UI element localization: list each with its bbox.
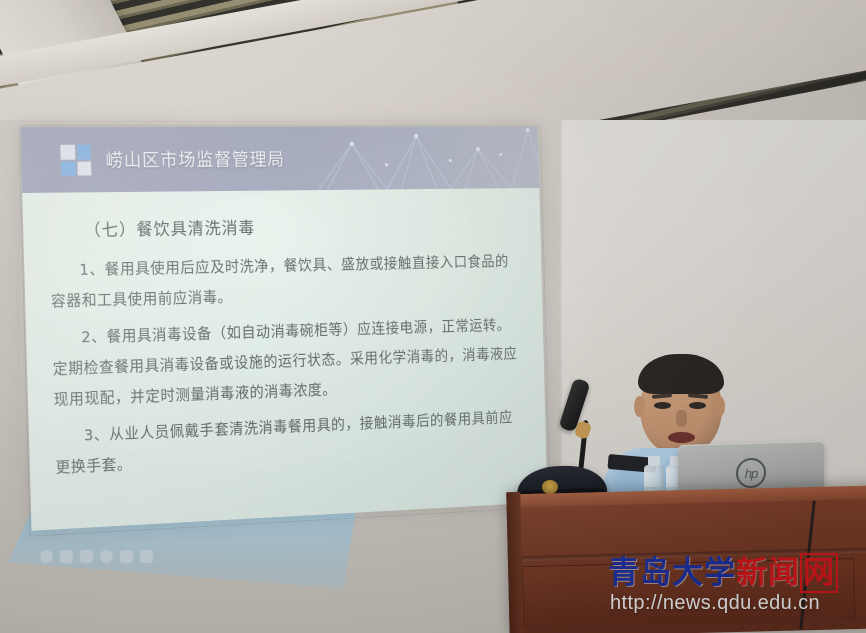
more-options-icon[interactable]: [140, 550, 153, 563]
pen-icon[interactable]: [80, 550, 93, 563]
eye-left: [654, 402, 671, 409]
org-logo-icon: [60, 145, 91, 176]
conference-room-photo: 崂山区市场监督管理局 （七）餐饮具清洗消毒 1、餐用具使用后应及时洗净，餐饮具、…: [0, 0, 866, 633]
ear-left: [634, 396, 645, 417]
network-node-graphic: [299, 127, 540, 191]
slide-paragraph-1: 1、餐用具使用后应及时洗净，餐饮具、盛放或接触直接入口食品的容器和工具使用前应消…: [50, 247, 520, 317]
org-title: 崂山区市场监督管理局: [105, 146, 285, 172]
projection-screen: 崂山区市场监督管理局 （七）餐饮具清洗消毒 1、餐用具使用后应及时洗净，餐饮具、…: [20, 127, 547, 531]
previous-slide-icon[interactable]: [40, 550, 53, 563]
eye-right: [689, 402, 706, 409]
ear-right: [714, 396, 725, 417]
slide-paragraph-3: 3、从业人员佩戴手套清洗消毒餐用具的，接触消毒后的餐用具前应更换手套。: [54, 403, 524, 484]
hair: [638, 354, 724, 394]
slide-header-band: 崂山区市场监督管理局: [20, 127, 539, 193]
presenter-toolbar[interactable]: [36, 545, 169, 567]
slide-grid-icon[interactable]: [120, 550, 133, 563]
cap-emblem-icon: [542, 480, 558, 494]
mouth: [668, 432, 695, 443]
slide-heading: （七）餐饮具清洗消毒: [84, 211, 518, 241]
zoom-icon[interactable]: [100, 550, 113, 563]
slide-paragraph-2: 2、餐用具消毒设备（如自动消毒碗柜等）应连接电源，正常运转。定期检查餐用具消毒设…: [51, 310, 522, 416]
next-slide-icon[interactable]: [60, 550, 73, 563]
nose: [676, 410, 687, 427]
slide-body: （七）餐饮具清洗消毒 1、餐用具使用后应及时洗净，餐饮具、盛放或接触直接入口食品…: [22, 188, 547, 531]
hp-logo-icon: hp: [736, 458, 766, 489]
